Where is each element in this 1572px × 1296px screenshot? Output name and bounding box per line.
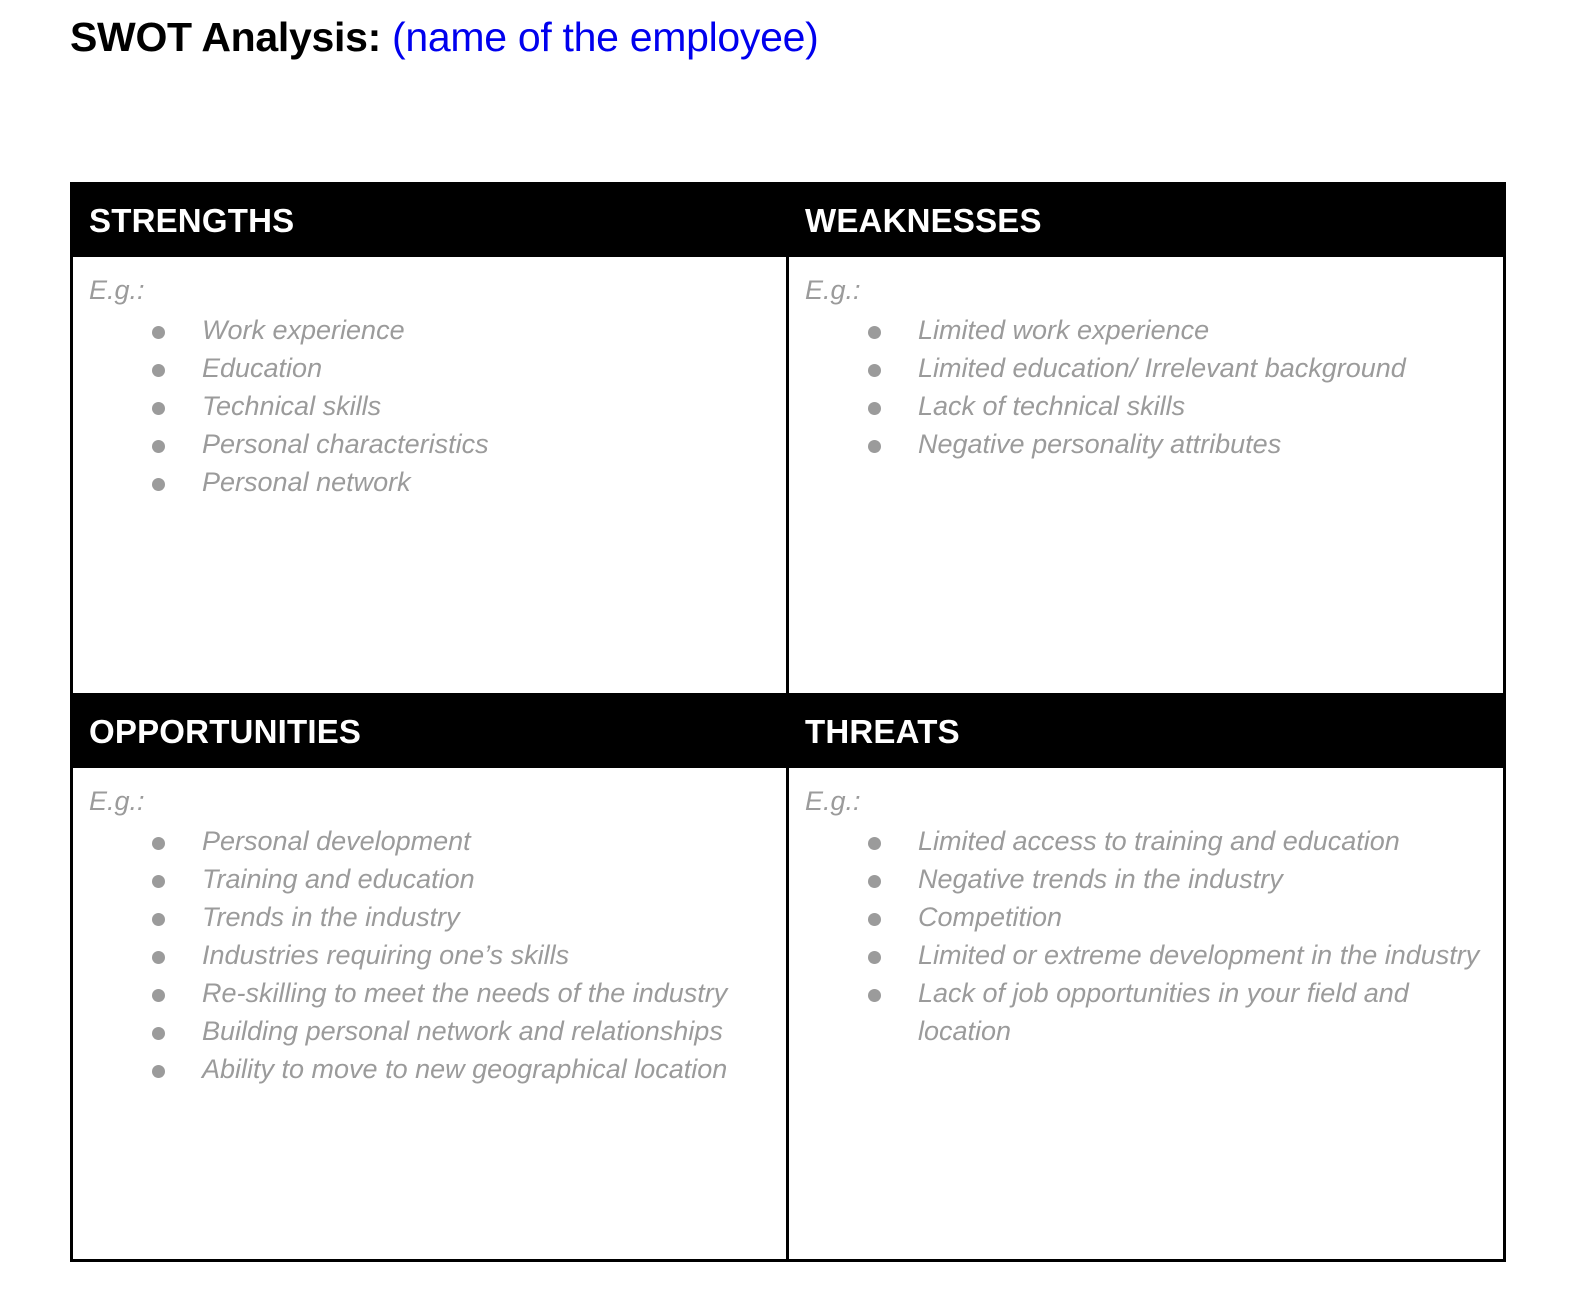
bullet-icon	[152, 989, 165, 1002]
bullet-icon	[152, 326, 165, 339]
bullet-icon	[152, 951, 165, 964]
bullet-icon	[152, 1065, 165, 1078]
list-item: Training and education	[89, 860, 770, 898]
list-item-label: Education	[202, 353, 322, 383]
bullet-icon	[868, 402, 881, 415]
bullet-icon	[868, 875, 881, 888]
list-item-label: Industries requiring one’s skills	[202, 940, 569, 970]
item-list-strengths: Work experience Education Technical skil…	[89, 311, 770, 501]
quadrant-heading-strengths: STRENGTHS	[73, 202, 789, 240]
list-item: Lack of technical skills	[805, 387, 1487, 425]
list-item: Limited or extreme development in the in…	[805, 936, 1487, 974]
quadrant-body-weaknesses: E.g.: Limited work experience Limited ed…	[789, 257, 1503, 693]
list-item-label: Re-skilling to meet the needs of the ind…	[202, 978, 727, 1008]
header-band-bottom: OPPORTUNITIES THREATS	[73, 696, 1503, 768]
list-item-label: Competition	[918, 902, 1062, 932]
swot-analysis-page: SWOT Analysis: (name of the employee) ST…	[0, 0, 1572, 1296]
list-item: Personal development	[89, 822, 770, 860]
quadrant-heading-threats: THREATS	[789, 713, 1503, 751]
list-item-label: Limited or extreme development in the in…	[918, 940, 1479, 970]
header-band-top: STRENGTHS WEAKNESSES	[73, 185, 1503, 257]
list-item: Competition	[805, 898, 1487, 936]
list-item-label: Personal network	[202, 467, 411, 497]
list-item-label: Building personal network and relationsh…	[202, 1016, 723, 1046]
list-item-label: Negative personality attributes	[918, 429, 1281, 459]
bullet-icon	[152, 875, 165, 888]
page-title-subject: (name of the employee)	[392, 14, 818, 60]
list-item: Trends in the industry	[89, 898, 770, 936]
quadrant-body-strengths: E.g.: Work experience Education Technica…	[73, 257, 789, 693]
bullet-icon	[868, 837, 881, 850]
list-item: Building personal network and relationsh…	[89, 1012, 770, 1050]
list-item: Limited work experience	[805, 311, 1487, 349]
bullet-icon	[868, 989, 881, 1002]
list-item: Personal network	[89, 463, 770, 501]
list-item-label: Lack of technical skills	[918, 391, 1185, 421]
list-item: Education	[89, 349, 770, 387]
list-item: Work experience	[89, 311, 770, 349]
swot-row-top: STRENGTHS WEAKNESSES E.g.: Work experien…	[73, 185, 1503, 696]
bullet-icon	[868, 913, 881, 926]
quadrant-heading-weaknesses: WEAKNESSES	[789, 202, 1503, 240]
list-item: Lack of job opportunities in your field …	[805, 974, 1487, 1050]
bullet-icon	[152, 1027, 165, 1040]
list-item-label: Personal development	[202, 826, 471, 856]
list-item-label: Personal characteristics	[202, 429, 489, 459]
list-item-label: Trends in the industry	[202, 902, 460, 932]
eg-label-weaknesses: E.g.:	[805, 271, 1487, 309]
quadrant-body-threats: E.g.: Limited access to training and edu…	[789, 768, 1503, 1259]
list-item-label: Limited access to training and education	[918, 826, 1400, 856]
list-item: Ability to move to new geographical loca…	[89, 1050, 770, 1088]
list-item: Industries requiring one’s skills	[89, 936, 770, 974]
swot-cells-bottom: E.g.: Personal development Training and …	[73, 768, 1503, 1259]
bullet-icon	[152, 478, 165, 491]
bullet-icon	[868, 364, 881, 377]
list-item-label: Negative trends in the industry	[918, 864, 1283, 894]
list-item: Technical skills	[89, 387, 770, 425]
bullet-icon	[868, 326, 881, 339]
bullet-icon	[868, 440, 881, 453]
list-item: Personal characteristics	[89, 425, 770, 463]
list-item: Limited education/ Irrelevant background	[805, 349, 1487, 387]
item-list-threats: Limited access to training and education…	[805, 822, 1487, 1050]
list-item-label: Ability to move to new geographical loca…	[202, 1054, 727, 1084]
list-item: Negative trends in the industry	[805, 860, 1487, 898]
quadrant-heading-opportunities: OPPORTUNITIES	[73, 713, 789, 751]
item-list-opportunities: Personal development Training and educat…	[89, 822, 770, 1088]
bullet-icon	[868, 951, 881, 964]
list-item-label: Lack of job opportunities in your field …	[918, 978, 1409, 1046]
bullet-icon	[152, 364, 165, 377]
eg-label-opportunities: E.g.:	[89, 782, 770, 820]
list-item-label: Technical skills	[202, 391, 381, 421]
list-item: Negative personality attributes	[805, 425, 1487, 463]
eg-label-threats: E.g.:	[805, 782, 1487, 820]
bullet-icon	[152, 837, 165, 850]
quadrant-body-opportunities: E.g.: Personal development Training and …	[73, 768, 789, 1259]
list-item-label: Limited work experience	[918, 315, 1209, 345]
list-item: Re-skilling to meet the needs of the ind…	[89, 974, 770, 1012]
swot-cells-top: E.g.: Work experience Education Technica…	[73, 257, 1503, 696]
page-title: SWOT Analysis: (name of the employee)	[70, 8, 818, 66]
eg-label-strengths: E.g.:	[89, 271, 770, 309]
bullet-icon	[152, 913, 165, 926]
page-title-main: SWOT Analysis:	[70, 14, 381, 60]
swot-matrix: STRENGTHS WEAKNESSES E.g.: Work experien…	[70, 182, 1506, 1262]
bullet-icon	[152, 402, 165, 415]
bullet-icon	[152, 440, 165, 453]
item-list-weaknesses: Limited work experience Limited educatio…	[805, 311, 1487, 463]
list-item: Limited access to training and education	[805, 822, 1487, 860]
list-item-label: Training and education	[202, 864, 475, 894]
list-item-label: Work experience	[202, 315, 405, 345]
list-item-label: Limited education/ Irrelevant background	[918, 353, 1406, 383]
swot-row-bottom: OPPORTUNITIES THREATS E.g.: Personal dev…	[73, 696, 1503, 1259]
